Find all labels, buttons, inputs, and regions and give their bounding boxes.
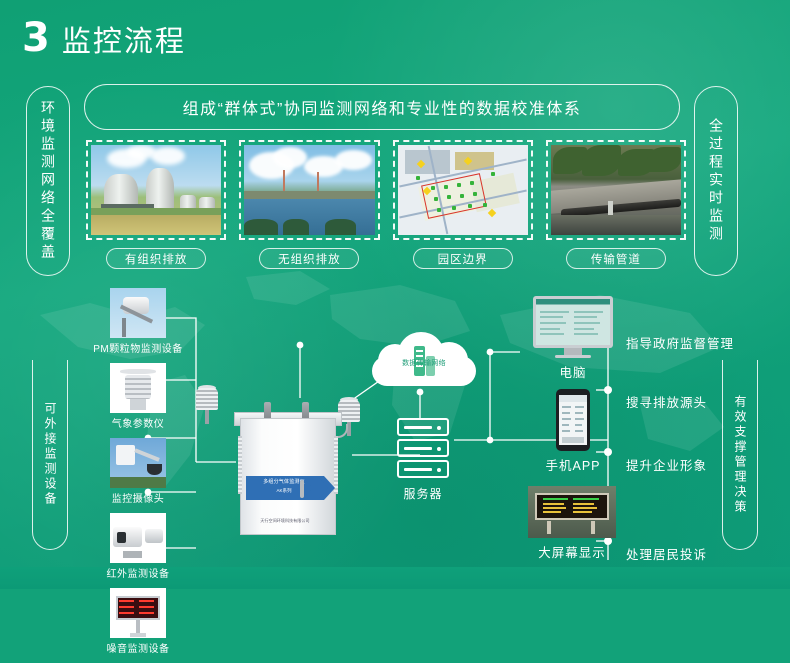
scene-photo-frame [546, 140, 686, 240]
harbor-smokestacks-photo [244, 145, 374, 235]
benefit-item-3: 处理居民投诉 [626, 544, 707, 563]
banner-text: 组成“群体式”协同监测网络和专业性的数据校准体系 [183, 95, 582, 119]
server-node: 服务器 [392, 418, 454, 502]
scene-caption-0: 有组织排放 [106, 248, 206, 269]
scene-caption-2-text: 园区边界 [438, 251, 488, 267]
cooling-towers-photo [91, 145, 221, 235]
output-led-display: 大屏幕显示 [524, 486, 620, 561]
scene-cell-unorganized-emission: 无组织排放 [239, 140, 379, 269]
output-mobile-app: 手机APP [541, 389, 605, 474]
device-item-weather: 气象参数仪 [78, 363, 198, 430]
gas-monitoring-cabinet: 多组分气体监测仪 AK系列 天行空间环境科技有限公司 [240, 400, 336, 535]
pipeline-photo [551, 145, 681, 235]
scene-photo-frame [393, 140, 533, 240]
scene-caption-0-text: 有组织排放 [125, 251, 188, 267]
infrared-monitor-photo [110, 513, 166, 563]
device-item-pm: PM颗粒物监测设备 [78, 288, 198, 355]
side-label-realtime-monitoring: 全过程实时监测 [694, 86, 738, 276]
scene-cell-organized-emission: 有组织排放 [86, 140, 226, 269]
side-label-left-top-text: 环境监测网络全覆盖 [41, 100, 55, 262]
benefit-item-0: 指导政府监督管理 [626, 333, 734, 352]
external-device-list: PM颗粒物监测设备 气象参数仪 监控摄像头 红外监测设备 噪音监测设备 [78, 288, 198, 663]
cloud-label: 数据传输网络 [368, 358, 480, 368]
scene-caption-3-text: 传输管道 [591, 251, 641, 267]
benefit-item-1: 搜寻排放源头 [626, 392, 707, 411]
side-label-external-devices: 可外接监测设备 [32, 360, 68, 550]
server-label: 服务器 [392, 485, 454, 502]
benefit-item-2: 提升企业形象 [626, 455, 707, 474]
device-label-noise: 噪音监测设备 [78, 640, 198, 655]
scene-cell-transport-pipeline: 传输管道 [546, 140, 686, 269]
scene-cell-park-boundary: 园区边界 [393, 140, 533, 269]
output-label-computer: 电脑 [525, 362, 621, 381]
scene-photo-frame [86, 140, 226, 240]
server-unit-3 [397, 460, 449, 478]
device-label-weather: 气象参数仪 [78, 415, 198, 430]
cabinet-band-line2: AK系列 [248, 488, 320, 494]
cabinet-band-line1: 多组分气体监测仪 [248, 478, 320, 485]
output-desktop-computer: 电脑 [525, 296, 621, 381]
device-item-infrared: 红外监测设备 [78, 513, 198, 580]
side-label-management-support: 有效支撑管理决策 [722, 360, 758, 550]
banner-statement: 组成“群体式”协同监测网络和专业性的数据校准体系 [84, 84, 680, 130]
server-unit-2 [397, 439, 449, 457]
side-label-right-bottom-text: 有效支撑管理决策 [734, 395, 746, 515]
side-label-left-bottom-text: 可外接监测设备 [44, 402, 56, 507]
mobile-phone [556, 389, 590, 451]
page-title: 3 监控流程 [22, 18, 186, 60]
industrial-park-map [398, 145, 528, 235]
scene-caption-2: 园区边界 [413, 248, 513, 269]
scene-caption-1: 无组织排放 [259, 248, 359, 269]
output-label-mobile-app: 手机APP [541, 455, 605, 474]
server-unit-1 [397, 418, 449, 436]
device-item-camera: 监控摄像头 [78, 438, 198, 505]
cabinet-vent-left [238, 436, 242, 494]
output-label-led-display: 大屏幕显示 [524, 542, 620, 561]
data-transmission-cloud-icon: 数据传输网络 [368, 330, 480, 392]
surveillance-camera-photo [110, 438, 166, 488]
device-label-pm: PM颗粒物监测设备 [78, 340, 198, 355]
scene-caption-1-text: 无组织排放 [278, 251, 341, 267]
side-label-right-top-text: 全过程实时监测 [709, 118, 723, 244]
scene-photo-row: 有组织排放 无组织排放 [86, 140, 686, 269]
cabinet-company-name: 天行空间环境科技有限公司 [246, 518, 324, 524]
device-label-camera: 监控摄像头 [78, 490, 198, 505]
led-display-board [528, 486, 616, 538]
weather-instrument-photo [110, 363, 166, 413]
cabinet-door-handle [300, 480, 304, 498]
radiation-shield-sensor-left [196, 388, 218, 424]
section-number: 3 [22, 18, 49, 58]
scene-caption-3: 传输管道 [566, 248, 666, 269]
device-label-infrared: 红外监测设备 [78, 565, 198, 580]
device-item-noise: 噪音监测设备 [78, 588, 198, 655]
desktop-computer [533, 296, 613, 348]
section-title: 监控流程 [62, 18, 186, 60]
pm-sensor-photo [110, 288, 166, 338]
side-label-environment-coverage: 环境监测网络全覆盖 [26, 86, 70, 276]
noise-monitor-photo [110, 588, 166, 638]
monitor-foot [555, 355, 591, 358]
scene-photo-frame [239, 140, 379, 240]
monitor-stand [564, 348, 582, 355]
